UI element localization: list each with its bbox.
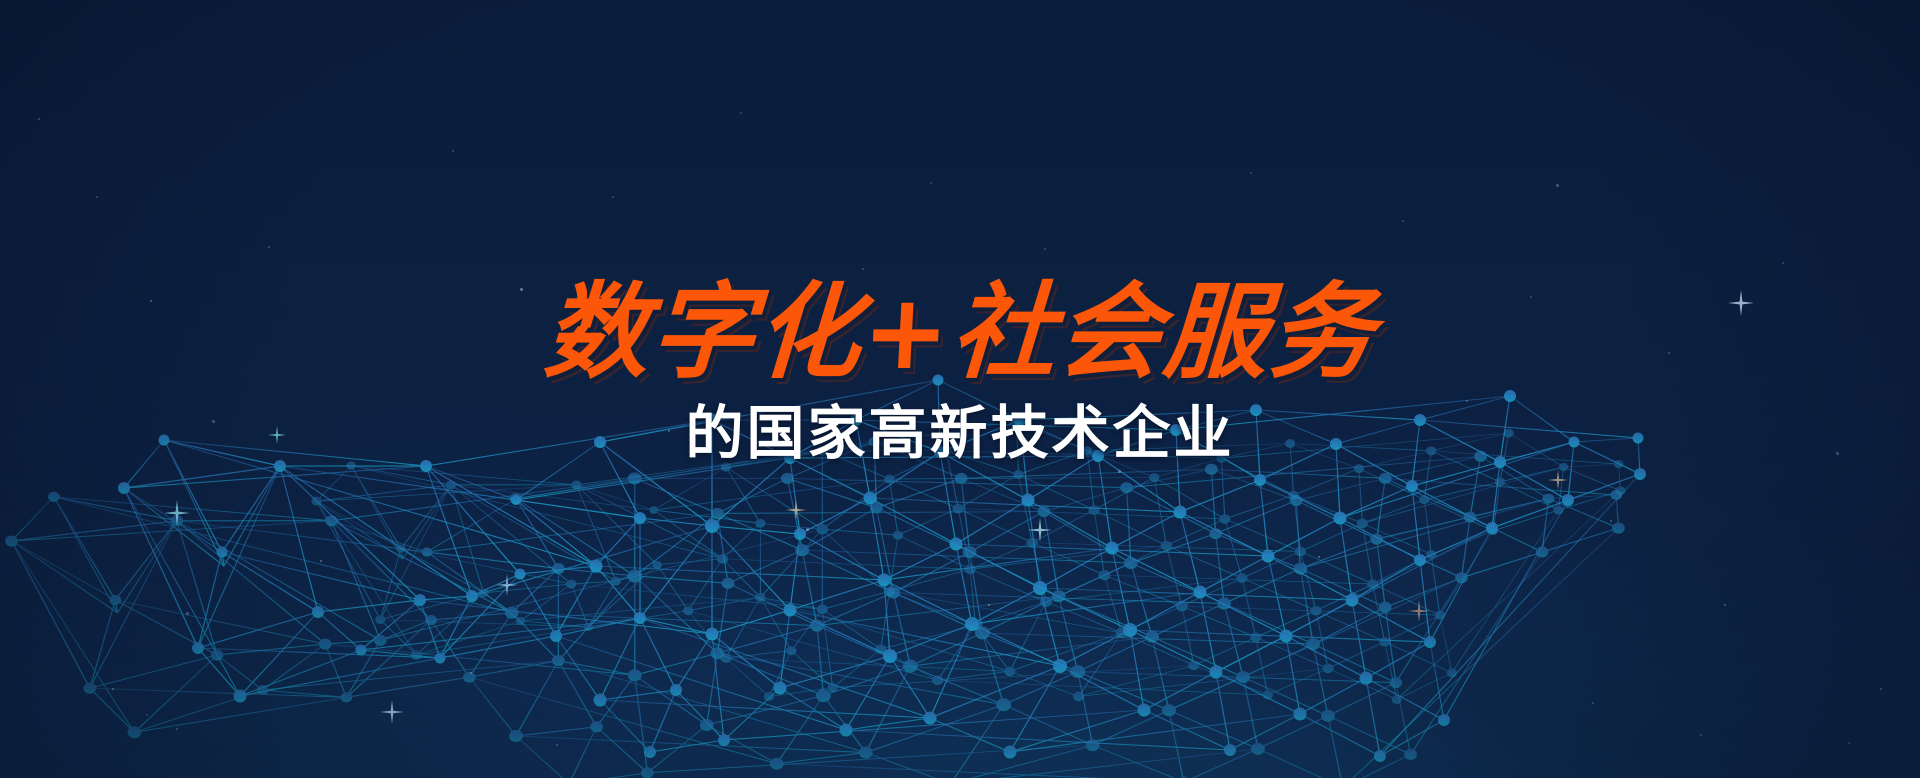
banner-text-block: 数字化+社会服务 的国家高新技术企业	[0, 278, 1920, 466]
page-title: 数字化+社会服务	[0, 278, 1920, 386]
banner-root: 数字化+社会服务 的国家高新技术企业	[0, 0, 1920, 778]
page-subtitle: 的国家高新技术企业	[0, 402, 1920, 466]
